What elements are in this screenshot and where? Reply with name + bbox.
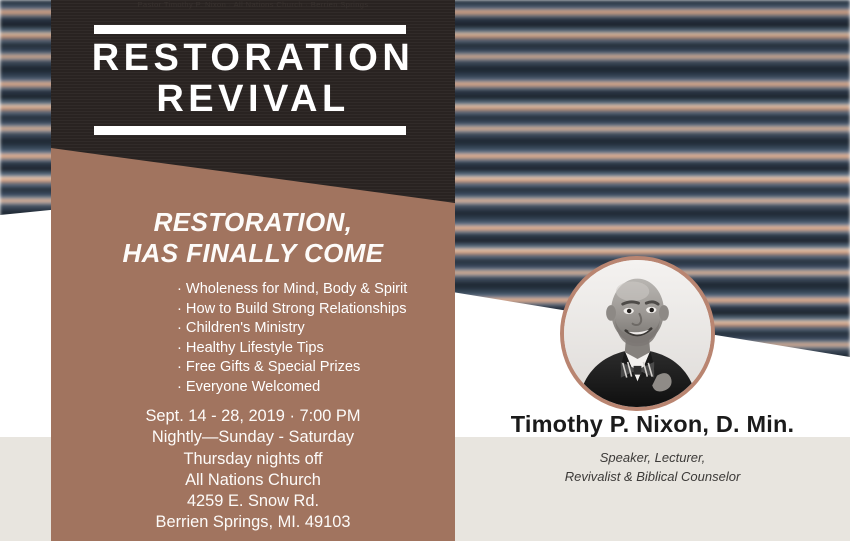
list-item: · Wholeness for Mind, Body & Spirit [177,280,457,300]
bullet-list: · Wholeness for Mind, Body & Spirit · Ho… [177,280,457,398]
revival-flyer: Pastor Timothy P. Nixon · All Nations Ch… [0,0,850,541]
headline-line-2: HAS FINALLY COME [51,238,455,269]
speaker-role-line-2: Revivalist & Biblical Counselor [455,467,850,486]
detail-date-time: Sept. 14 - 28, 2019 · 7:00 PM [51,406,455,427]
headline-line-1: RESTORATION, [51,207,455,238]
detail-schedule: Nightly—Sunday - Saturday [51,427,455,448]
event-details: Sept. 14 - 28, 2019 · 7:00 PM Nightly—Su… [51,406,455,534]
list-item: · Everyone Welcomed [177,378,457,398]
list-item: · Healthy Lifestyle Tips [177,339,457,359]
speaker-role-line-1: Speaker, Lecturer, [455,448,850,467]
list-item: · Children's Ministry [177,319,457,339]
detail-venue: All Nations Church [51,470,455,491]
title-line-2: REVIVAL [51,79,455,120]
speaker-name: Timothy P. Nixon, D. Min. [455,411,850,438]
title-rule-top [94,25,406,34]
title-line-1: RESTORATION [51,38,455,79]
title-rule-bottom [94,126,406,135]
headline: RESTORATION, HAS FINALLY COME [51,207,455,269]
list-item: · How to Build Strong Relationships [177,300,457,320]
list-item: · Free Gifts & Special Prizes [177,358,457,378]
portrait-illustration [564,260,711,407]
speaker-role: Speaker, Lecturer, Revivalist & Biblical… [455,448,850,486]
detail-street: 4259 E. Snow Rd. [51,491,455,512]
speaker-portrait-avatar [560,256,715,411]
top-strip-text: Pastor Timothy P. Nixon · All Nations Ch… [51,0,455,9]
poster-title: RESTORATION REVIVAL [51,38,455,120]
detail-off-nights: Thursday nights off [51,449,455,470]
detail-city: Berrien Springs, MI. 49103 [51,512,455,533]
